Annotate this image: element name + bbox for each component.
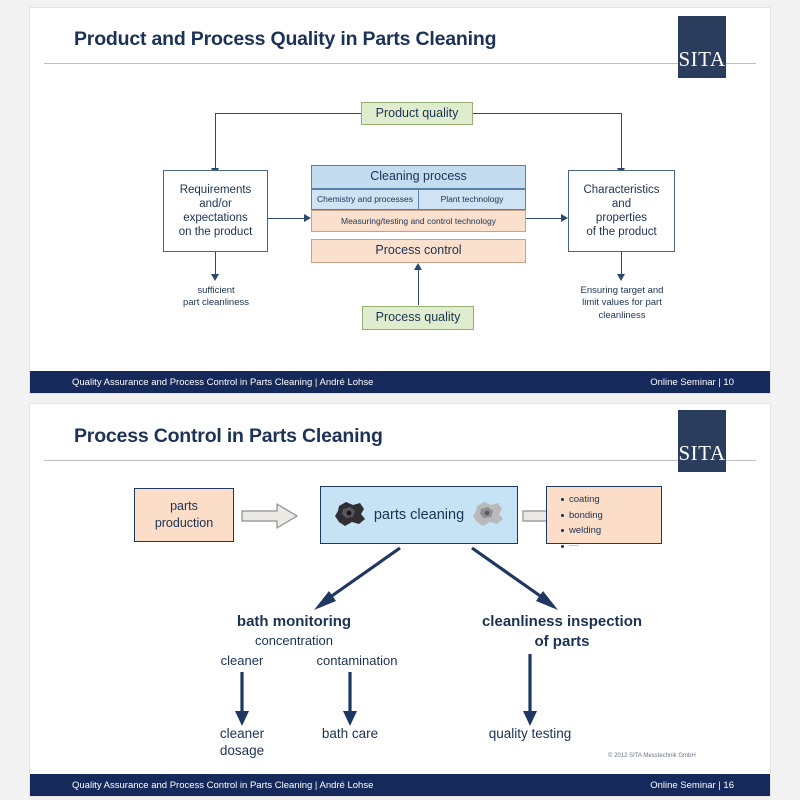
connector-pq-right: [473, 113, 622, 114]
connector-pq-right-down: [621, 113, 622, 169]
plant-technology-cell[interactable]: Plant technology: [418, 189, 526, 210]
requirements-line-3: expectations: [183, 211, 248, 225]
result-arrow-2-icon: [340, 672, 360, 733]
list-item: welding: [569, 525, 661, 536]
title-divider-2: [44, 460, 756, 461]
arrowhead-ensuring: [617, 274, 625, 281]
page-title: Product and Process Quality in Parts Cle…: [74, 28, 496, 51]
cleanliness-inspection-title-2: of parts: [450, 633, 674, 652]
result-arrow-3-icon: [520, 654, 540, 733]
outcome-bath-care: bath care: [290, 726, 410, 743]
dark-metal-part-icon: [333, 500, 367, 535]
footer-left-text-2: Quality Assurance and Process Control in…: [72, 780, 373, 791]
page-title-2: Process Control in Parts Cleaning: [74, 425, 383, 448]
arrowhead-process-control-in: [414, 263, 422, 270]
connector-pq2-up: [418, 270, 419, 305]
connector-char-down: [621, 252, 622, 276]
caption-right-line-1: Ensuring target and: [556, 285, 688, 297]
connector-req-down: [215, 252, 216, 276]
requirements-line-1: Requirements: [180, 183, 252, 197]
caption-ensuring-target: Ensuring target and limit values for par…: [556, 285, 688, 322]
sita-logo: SITA: [678, 16, 726, 78]
copyright-notice: © 2012 SITA Messtechnik GmbH: [608, 753, 696, 759]
list-item: .....: [569, 541, 661, 548]
requirements-line-2: and/or: [199, 197, 232, 211]
slide-10-body: Product and Process Quality in Parts Cle…: [30, 8, 770, 393]
connector-pq-left-down: [215, 113, 216, 169]
slide-16-footer: Quality Assurance and Process Control in…: [30, 774, 770, 796]
branch-arrow-left-icon: [302, 544, 412, 619]
chemistry-label: Chemistry and processes: [317, 194, 413, 204]
caption-right-line-2: limit values for part: [556, 297, 688, 309]
process-control-label: Process control: [375, 243, 461, 258]
footer-right-text: Online Seminar | 10: [650, 377, 734, 388]
caption-left-line-1: sufficient: [150, 285, 282, 297]
downstream-processes-box[interactable]: coating bonding welding .....: [546, 486, 662, 544]
cleanliness-inspection-title-1: cleanliness inspection: [450, 613, 674, 632]
downstream-list: coating bonding welding .....: [559, 494, 661, 548]
process-quality-label: Process quality: [376, 310, 461, 325]
list-item: bonding: [569, 510, 661, 521]
footer-left-text: Quality Assurance and Process Control in…: [72, 377, 373, 388]
parts-production-line-2: production: [155, 515, 213, 532]
sita-logo-text-2: SITA: [679, 443, 726, 472]
list-item: coating: [569, 494, 661, 505]
bath-monitoring-item-contamination: contamination: [292, 653, 422, 669]
characteristics-line-2: and: [612, 197, 631, 211]
cleaning-process-label: Cleaning process: [370, 169, 467, 184]
light-metal-part-icon: [471, 500, 505, 535]
presentation-page: Product and Process Quality in Parts Cle…: [0, 0, 800, 800]
connector-stack-to-char: [526, 218, 562, 219]
title-divider: [44, 63, 756, 64]
outcome-left-line-2: dosage: [182, 743, 302, 760]
requirements-line-4: on the product: [179, 225, 253, 239]
arrowhead-stack-in: [304, 214, 311, 222]
slide-process-control: Process Control in Parts Cleaning SITA p…: [30, 404, 770, 796]
branch-arrow-right-icon: [460, 544, 570, 619]
arrowhead-sufficient: [211, 274, 219, 281]
connector-req-to-stack: [268, 218, 305, 219]
outcome-cleaner-dosage: cleaner dosage: [182, 726, 302, 760]
parts-cleaning-label: parts cleaning: [374, 507, 464, 523]
chemistry-and-processes-cell[interactable]: Chemistry and processes: [311, 189, 419, 210]
measuring-label: Measuring/testing and control technology: [341, 216, 496, 226]
characteristics-line-3: properties: [596, 211, 647, 225]
characteristics-line-1: Characteristics: [583, 183, 659, 197]
product-quality-label: Product quality: [376, 106, 459, 121]
slide-10-footer: Quality Assurance and Process Control in…: [30, 371, 770, 393]
arrowhead-char-in: [561, 214, 568, 222]
footer-right-text-2: Online Seminar | 16: [650, 780, 734, 791]
connector-pq-left: [215, 113, 361, 114]
plant-technology-label: Plant technology: [441, 194, 504, 204]
slide-16-body: Process Control in Parts Cleaning SITA p…: [30, 404, 770, 796]
product-quality-box[interactable]: Product quality: [361, 102, 473, 125]
parts-production-box[interactable]: parts production: [134, 488, 234, 542]
outcome-quality-testing: quality testing: [450, 726, 610, 743]
caption-right-line-3: cleanliness: [556, 310, 688, 322]
flow-arrow-1-icon: [241, 502, 299, 535]
bath-monitoring-item-cleaner: cleaner: [190, 653, 294, 669]
sita-logo-2: SITA: [678, 410, 726, 472]
sita-logo-text: SITA: [679, 49, 726, 78]
caption-left-line-2: part cleanliness: [150, 297, 282, 309]
parts-production-line-1: parts: [155, 498, 213, 515]
requirements-box[interactable]: Requirements and/or expectations on the …: [163, 170, 268, 252]
result-arrow-1-icon: [232, 672, 252, 733]
cleaning-process-header[interactable]: Cleaning process: [311, 165, 526, 189]
outcome-left-line-1: cleaner: [182, 726, 302, 743]
process-control-cell[interactable]: Process control: [311, 239, 526, 263]
characteristics-line-4: of the product: [586, 225, 656, 239]
characteristics-box[interactable]: Characteristics and properties of the pr…: [568, 170, 675, 252]
slide-product-and-process-quality: Product and Process Quality in Parts Cle…: [30, 8, 770, 393]
caption-sufficient-cleanliness: sufficient part cleanliness: [150, 285, 282, 310]
process-quality-box[interactable]: Process quality: [362, 306, 474, 330]
measuring-testing-cell[interactable]: Measuring/testing and control technology: [311, 210, 526, 232]
bath-monitoring-subtitle: concentration: [204, 633, 384, 649]
bath-monitoring-title: bath monitoring: [204, 613, 384, 632]
